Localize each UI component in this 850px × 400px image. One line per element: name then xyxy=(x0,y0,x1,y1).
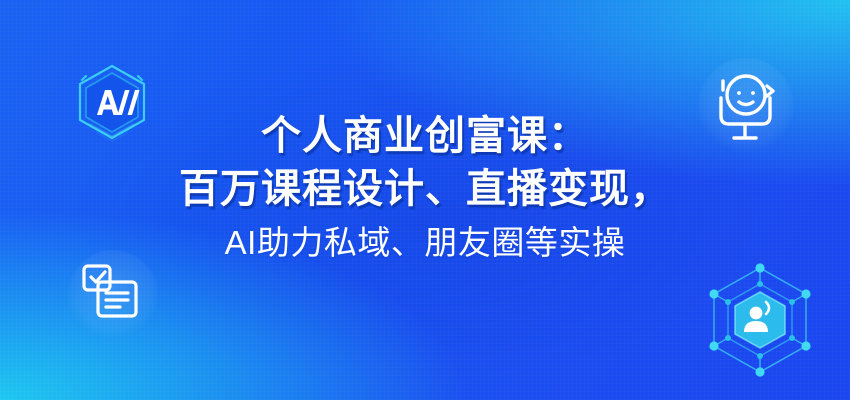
headline-line-1: 个人商业创富课： xyxy=(0,112,850,161)
course-promo-banner: 个人商业创富课： 百万课程设计、直播变现， AI助力私域、朋友圈等实操 xyxy=(0,0,850,400)
headline-line-3: AI助力私域、朋友圈等实操 xyxy=(0,223,850,263)
headline-block: 个人商业创富课： 百万课程设计、直播变现， AI助力私域、朋友圈等实操 xyxy=(0,112,850,263)
network-node-icon xyxy=(698,258,822,382)
docs-halo xyxy=(68,250,158,340)
headline-line-2: 百万课程设计、直播变现， xyxy=(0,165,850,214)
